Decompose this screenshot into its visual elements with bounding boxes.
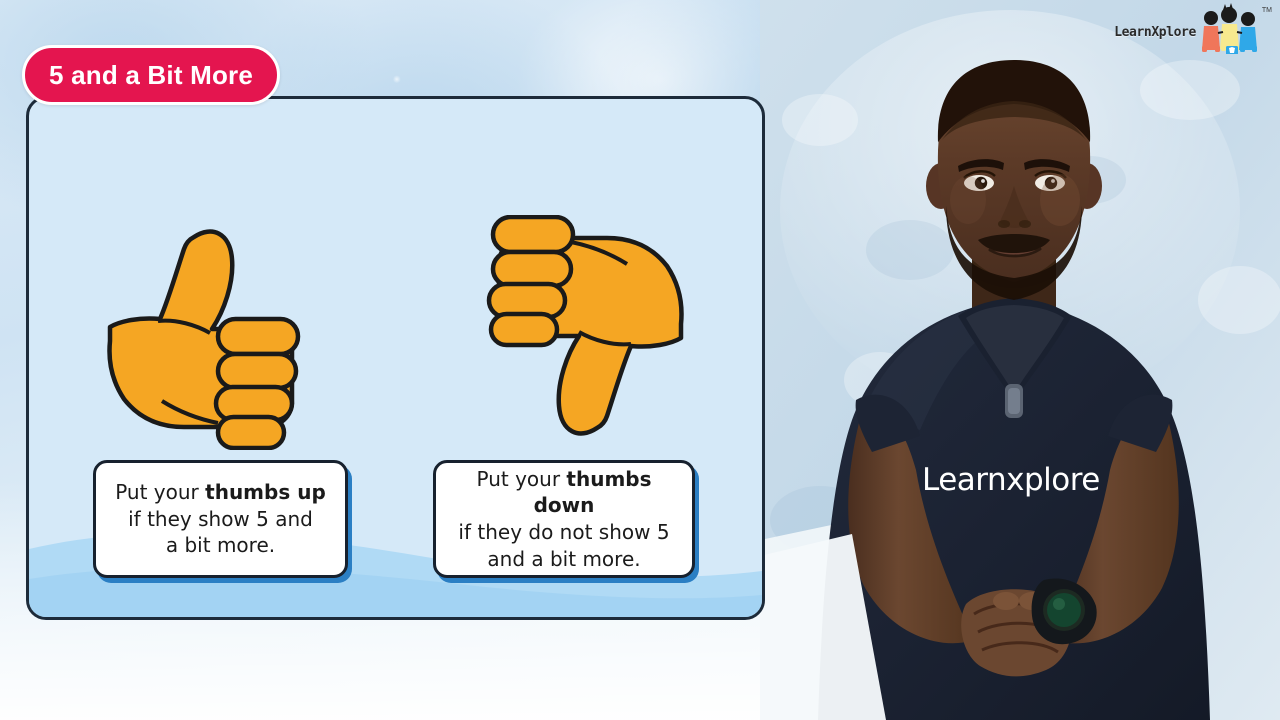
presenter-video-person: Learnxplore	[760, 0, 1280, 720]
brand-trademark: TM	[1262, 7, 1272, 14]
brand-wordmark: LearnXplore	[1114, 25, 1196, 40]
thumbs-down-icon	[455, 215, 685, 450]
callout-thumbs-down: Put your thumbs down if they do not show…	[433, 460, 695, 578]
callout-thumbs-down-text: Put your thumbs down if they do not show…	[436, 456, 692, 582]
page-title: 5 and a Bit More	[49, 60, 253, 91]
callout-down-line2: if they do not show 5	[458, 520, 669, 544]
callout-thumbs-up-text: Put your thumbs up if they show 5 and a …	[101, 469, 340, 569]
brand-figures-icon	[1198, 2, 1260, 54]
slide-title-badge: 5 and a Bit More	[22, 45, 280, 105]
callout-up-line2: if they show 5 and	[128, 507, 313, 531]
callout-down-line3: and a bit more.	[487, 547, 640, 571]
callout-thumbs-up: Put your thumbs up if they show 5 and a …	[93, 460, 348, 578]
callout-up-line1-prefix: Put your	[115, 480, 205, 504]
svg-text:Learnxplore: Learnxplore	[922, 462, 1100, 498]
brand-logo: LearnXplore	[1114, 2, 1272, 54]
thumbs-up-icon	[106, 215, 336, 450]
callout-up-line1-bold: thumbs up	[205, 480, 326, 504]
callout-up-line3: a bit more.	[166, 533, 275, 557]
slide-stage: Learnxplore	[0, 0, 1280, 720]
callout-down-line1-prefix: Put your	[476, 467, 566, 491]
